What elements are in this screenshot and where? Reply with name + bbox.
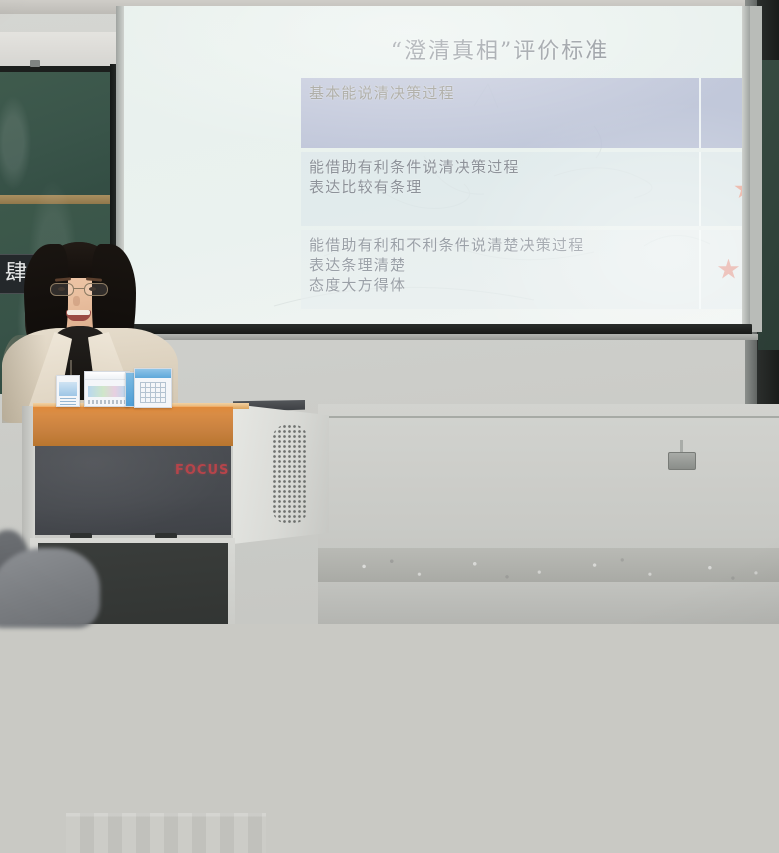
lectern-brand-logo: FOCUS bbox=[175, 463, 229, 478]
criteria-line: 表达条理清楚 bbox=[309, 255, 699, 275]
screen-right-bezel bbox=[742, 6, 750, 332]
smiling-mouth bbox=[66, 310, 91, 321]
floor-foreground bbox=[318, 582, 779, 624]
star-icon bbox=[734, 178, 742, 200]
product-box-small-left bbox=[56, 375, 80, 407]
column-divider bbox=[699, 78, 701, 148]
box-label-text-lines bbox=[88, 400, 126, 404]
chalkboard-top-trim bbox=[0, 32, 117, 66]
box-label-graphic bbox=[59, 382, 77, 396]
column-divider bbox=[699, 230, 701, 309]
criteria-cell: 能借助有利和不利条件说清楚决策过程 表达条理清楚 态度大方得体 bbox=[301, 230, 699, 309]
eyeglasses bbox=[50, 283, 108, 296]
wall-seam-line bbox=[318, 416, 779, 418]
table-row: 基本能说清决策过程 bbox=[301, 78, 742, 148]
criteria-line: 基本能说清决策过程 bbox=[309, 83, 699, 103]
teeth bbox=[67, 310, 90, 315]
nose bbox=[73, 296, 80, 306]
wall-bracket bbox=[668, 452, 696, 470]
rating-cell bbox=[699, 230, 742, 309]
box-top-flap bbox=[135, 369, 171, 378]
slide-criteria-table: 基本能说清决策过程 能借助有利条件说清决策过程 表达比较有条理 bbox=[301, 78, 742, 309]
product-box-center bbox=[84, 371, 130, 407]
criteria-cell: 能借助有利条件说清决策过程 表达比较有条理 bbox=[301, 152, 699, 226]
floor-terrazzo-texture bbox=[318, 556, 779, 582]
lens-left bbox=[50, 283, 74, 296]
criteria-line: 表达比较有条理 bbox=[309, 177, 699, 197]
box-grid-graphic bbox=[140, 382, 166, 403]
column-divider bbox=[699, 152, 701, 226]
rating-cell bbox=[699, 152, 742, 226]
screen-bottom-shelf bbox=[118, 334, 758, 340]
criteria-line: 态度大方得体 bbox=[309, 275, 699, 295]
box-top-flap bbox=[85, 372, 129, 380]
glasses-bridge bbox=[74, 288, 84, 289]
rating-cell bbox=[699, 78, 742, 148]
speaker-grille bbox=[272, 424, 308, 524]
criteria-line: 能借助有利和不利条件说清楚决策过程 bbox=[309, 235, 699, 255]
wood-grain bbox=[66, 813, 266, 853]
criteria-line: 能借助有利条件说清决策过程 bbox=[309, 157, 699, 177]
projection-screen: “澄清真相”评价标准 基本能说清决策过程 能借助有利条件说清决策过程 表达比较有… bbox=[124, 6, 742, 324]
table-row: 能借助有利条件说清决策过程 表达比较有条理 bbox=[301, 152, 742, 226]
criteria-cell: 基本能说清决策过程 bbox=[301, 78, 699, 148]
star-icon bbox=[718, 259, 740, 281]
box-color-band bbox=[88, 386, 126, 397]
lectern-front-highlight bbox=[35, 446, 231, 535]
foreground-person-shoulder bbox=[0, 548, 100, 628]
lens-right bbox=[84, 283, 108, 296]
slide-title: “澄清真相”评价标准 bbox=[300, 39, 700, 65]
product-box-right bbox=[134, 368, 172, 408]
classroom-scene: 肆 “澄清真相”评价标准 bbox=[0, 0, 779, 624]
table-row: 能借助有利和不利条件说清楚决策过程 表达条理清楚 态度大方得体 bbox=[301, 230, 742, 309]
lectern-wood-front bbox=[33, 406, 233, 446]
chalkboard-clip bbox=[30, 60, 40, 67]
box-label-text-lines bbox=[60, 398, 76, 405]
